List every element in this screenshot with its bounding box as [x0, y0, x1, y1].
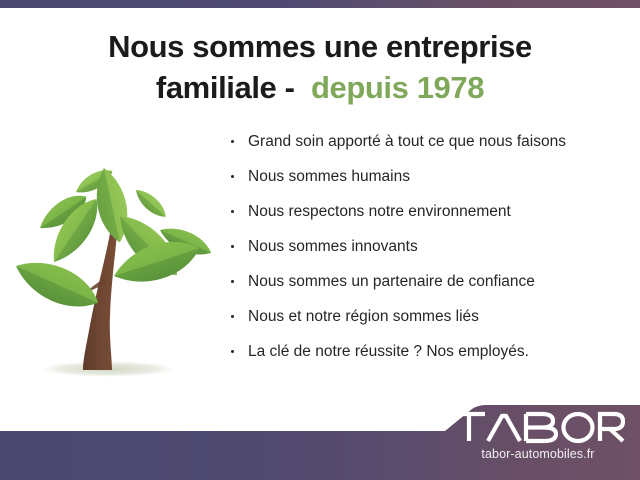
tabor-wordmark-icon: [450, 410, 626, 444]
brand-tagline: tabor-automobiles.fr: [450, 447, 626, 461]
brand-wordmark: [450, 410, 626, 446]
list-item: Nous et notre région sommes liés: [228, 302, 628, 331]
page-title-dash: -: [285, 70, 295, 105]
bullet-icon: [231, 315, 234, 318]
top-accent-bar: [0, 0, 640, 8]
list-item: Nous sommes humains: [228, 162, 628, 191]
list-item: La clé de notre réussite ? Nos employés.: [228, 337, 628, 366]
bullet-icon: [231, 210, 234, 213]
bullet-icon: [231, 350, 234, 353]
brand-logo[interactable]: tabor-automobiles.fr: [450, 410, 626, 461]
list-item-label: Nous respectons notre environnement: [248, 203, 511, 220]
bullet-icon: [231, 245, 234, 248]
page-title: Nous sommes une entreprise familiale - d…: [0, 26, 640, 108]
page-title-line-1: Nous sommes une entreprise: [0, 26, 640, 67]
list-item: Nous sommes innovants: [228, 232, 628, 261]
page-title-line-2-prefix: familiale: [156, 70, 276, 105]
page-title-line-2: familiale - depuis 1978: [0, 67, 640, 108]
list-item-label: Nous sommes humains: [248, 168, 410, 185]
list-item: Nous sommes un partenaire de confiance: [228, 267, 628, 296]
tree-illustration: [8, 150, 214, 386]
list-item: Grand soin apporté à tout ce que nous fa…: [228, 127, 628, 156]
bullet-icon: [231, 280, 234, 283]
tree-leaf: [131, 185, 170, 222]
page-title-accent: depuis 1978: [311, 70, 484, 105]
bullet-icon: [231, 140, 234, 143]
footer-band: tabor-automobiles.fr: [0, 396, 640, 480]
list-item-label: Grand soin apporté à tout ce que nous fa…: [248, 133, 566, 150]
value-proposition-list: Grand soin apporté à tout ce que nous fa…: [228, 127, 628, 372]
list-item: Nous respectons notre environnement: [228, 197, 628, 226]
tree-icon: [8, 150, 214, 386]
list-item-label: Nous et notre région sommes liés: [248, 308, 479, 325]
list-item-label: La clé de notre réussite ? Nos employés.: [248, 343, 529, 360]
bullet-icon: [231, 175, 234, 178]
list-item-label: Nous sommes un partenaire de confiance: [248, 273, 535, 290]
list-item-label: Nous sommes innovants: [248, 238, 418, 255]
